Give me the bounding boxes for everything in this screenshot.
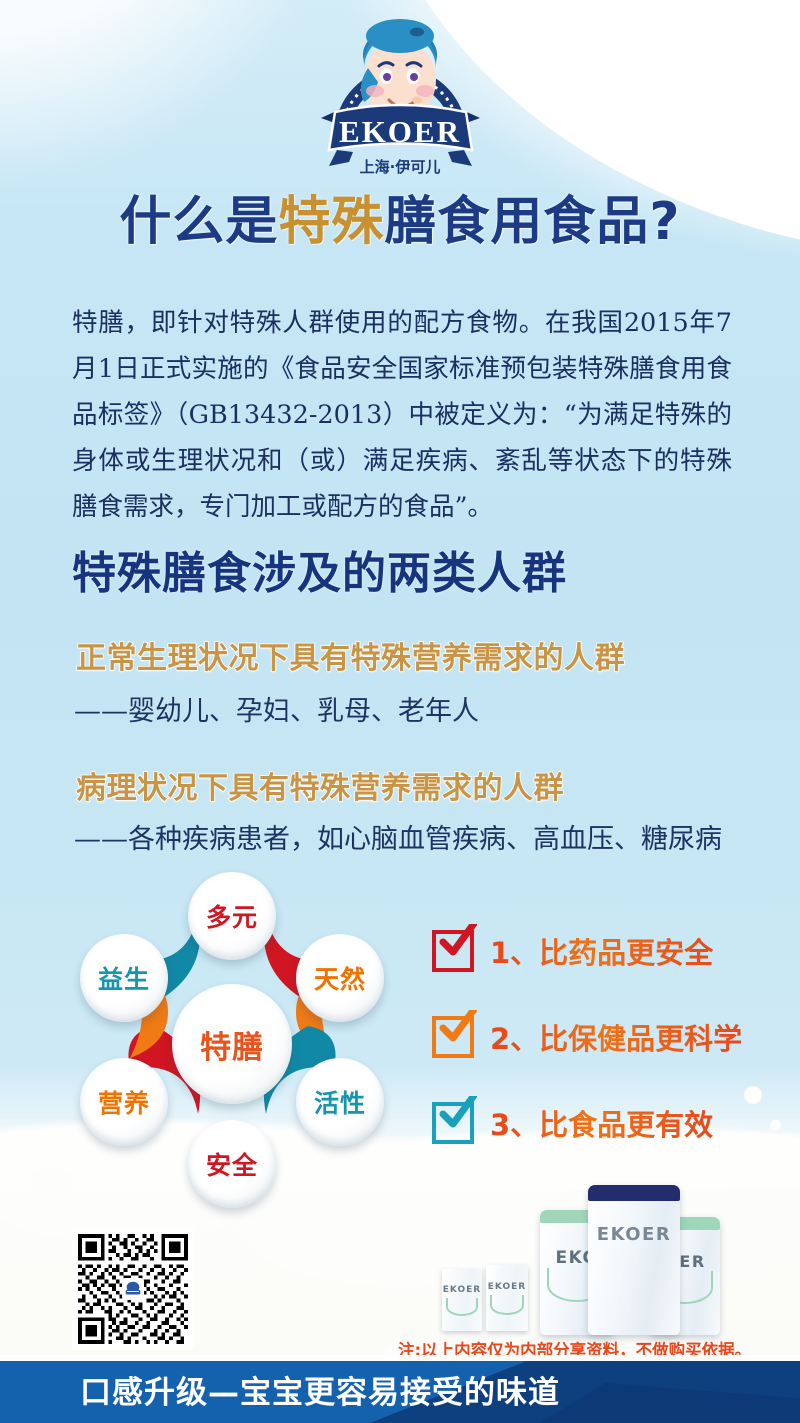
group-1-detail: ——婴幼儿、孕妇、乳母、老年人 xyxy=(74,698,794,725)
group-1-heading: 正常生理状况下具有特殊营养需求的人群 xyxy=(76,644,776,674)
heart-arc-decoration xyxy=(490,1295,524,1314)
ekoer-mascot-logo: EKOER 上海·伊可儿 xyxy=(313,8,488,178)
wechat-qr-code[interactable] xyxy=(72,1228,194,1350)
check-mark-icon xyxy=(439,924,477,958)
diagram-node-bottom-right-label: 活性 xyxy=(314,1084,366,1120)
checklist-item-label: 3、比食品更有效 xyxy=(490,1102,713,1144)
checklist-item: 2、比保健品更科学 xyxy=(432,1016,772,1058)
checkbox-checked-icon xyxy=(432,1102,474,1144)
heart-arc-decoration xyxy=(446,1298,478,1316)
hexagon-diagram: 多元 天然 活性 安全 营养 益生 特膳 xyxy=(60,872,404,1216)
diagram-node-top-right: 天然 xyxy=(296,934,384,1022)
page-title: 什么是特殊膳食用食品? xyxy=(0,196,800,248)
diagram-node-top-right-label: 天然 xyxy=(314,960,366,996)
checklist-item-label: 2、比保健品更科学 xyxy=(490,1016,742,1058)
diagram-node-bottom-left: 营养 xyxy=(80,1058,168,1146)
group-2-heading: 病理状况下具有特殊营养需求的人群 xyxy=(76,774,776,804)
check-mark-icon xyxy=(439,1010,477,1044)
diagram-node-bottom-right: 活性 xyxy=(296,1058,384,1146)
qr-center-logo-icon xyxy=(122,1278,144,1300)
benefits-checklist: 1、比药品更安全 2、比保健品更科学 3、比食品更有效 xyxy=(432,930,772,1188)
product-can-featured: EKOER xyxy=(588,1185,680,1335)
checklist-item: 3、比食品更有效 xyxy=(432,1102,772,1144)
title-highlight: 特殊 xyxy=(278,192,384,252)
bottom-banner: 口感升级—宝宝更容易接受的味道 xyxy=(0,1355,800,1423)
checklist-item-label: 1、比药品更安全 xyxy=(490,930,713,972)
checkbox-checked-icon xyxy=(432,1016,474,1058)
product-can-brand: EKOER xyxy=(588,1224,680,1245)
checkbox-checked-icon xyxy=(432,930,474,972)
diagram-node-bottom: 安全 xyxy=(188,1120,276,1208)
check-mark-icon xyxy=(439,1096,477,1130)
diagram-node-top-left-label: 益生 xyxy=(98,960,150,996)
diagram-node-top: 多元 xyxy=(188,872,276,960)
product-box: EKOER xyxy=(442,1269,482,1331)
checklist-item: 1、比药品更安全 xyxy=(432,930,772,972)
logo-wordmark: EKOER xyxy=(339,114,461,149)
product-box: EKOER xyxy=(486,1265,528,1331)
top-left-glow xyxy=(0,0,340,180)
logo-subtitle: 上海·伊可儿 xyxy=(360,158,441,176)
can-lid xyxy=(588,1185,680,1201)
diagram-center-node: 特膳 xyxy=(172,984,292,1104)
product-box-brand: EKOER xyxy=(442,1285,482,1295)
product-lineup: EKOER EKOER EKO OER EKOER xyxy=(420,1175,790,1335)
diagram-node-bottom-left-label: 营养 xyxy=(98,1084,150,1120)
diagram-node-bottom-label: 安全 xyxy=(206,1146,258,1182)
diagram-node-top-left: 益生 xyxy=(80,934,168,1022)
intro-paragraph: 特膳，即针对特殊人群使用的配方食物。在我国2015年7月1日正式实施的《食品安全… xyxy=(72,300,732,530)
section-heading: 特殊膳食涉及的两类人群 xyxy=(72,552,772,596)
poster-root: EKOER 上海·伊可儿 什么是特殊膳食用食品? 特膳，即针对特殊人群使用的配方… xyxy=(0,0,800,1423)
title-part1: 什么是 xyxy=(119,192,278,252)
bottom-banner-text: 口感升级—宝宝更容易接受的味道 xyxy=(0,1355,800,1423)
diagram-node-top-label: 多元 xyxy=(206,898,258,934)
title-part2: 膳食用食品? xyxy=(384,192,680,252)
product-box-brand: EKOER xyxy=(486,1282,528,1292)
diagram-center-label: 特膳 xyxy=(200,1022,264,1067)
group-2-detail: ——各种疾病患者，如心脑血管疾病、高血压、糖尿病 xyxy=(74,826,794,853)
